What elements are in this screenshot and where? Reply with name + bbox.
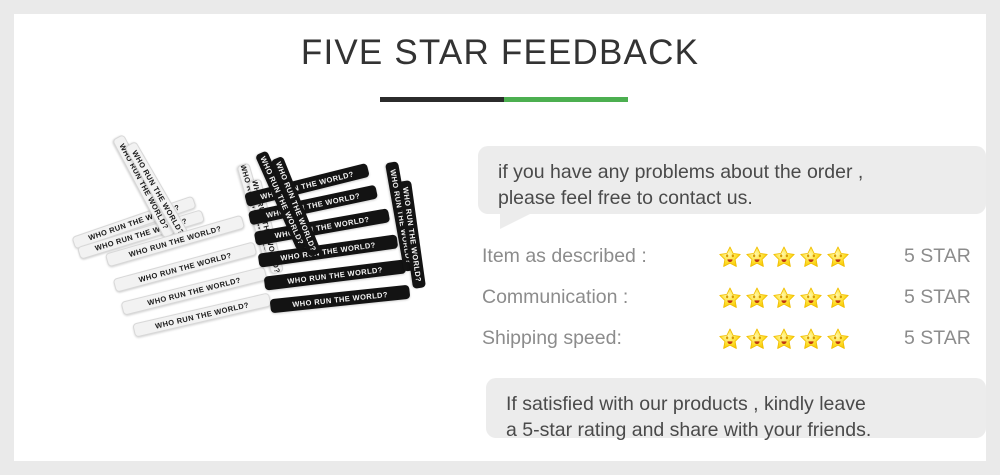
call-to-action-bubble: If satisfied with our products , kindly …	[486, 378, 986, 438]
rating-row-item-as-described: Item as described : 5 STAR	[482, 236, 986, 277]
rating-label: Communication :	[482, 286, 718, 309]
star-icon	[745, 286, 769, 310]
bubble-tail	[500, 212, 534, 229]
star-icon	[799, 245, 823, 269]
contact-message-line-2: please feel free to contact us.	[498, 185, 968, 211]
banner-panel: FIVE STAR FEEDBACK WHO RUN THE WORLD? WH…	[14, 14, 986, 461]
page-title: FIVE STAR FEEDBACK	[14, 33, 986, 73]
star-icon	[745, 245, 769, 269]
title-underline	[380, 97, 628, 102]
star-icon	[799, 286, 823, 310]
star-icon	[718, 245, 742, 269]
star-icon	[718, 286, 742, 310]
star-icon	[772, 327, 796, 351]
rating-row-communication: Communication : 5 STAR	[482, 277, 986, 318]
underline-segment-green	[504, 97, 628, 102]
rating-stars	[718, 286, 858, 310]
contact-message-bubble: if you have any problems about the order…	[478, 146, 986, 214]
rating-value: 5 STAR	[858, 286, 971, 309]
star-icon	[826, 327, 850, 351]
call-to-action-line-1: If satisfied with our products , kindly …	[506, 391, 968, 417]
star-icon	[826, 245, 850, 269]
underline-segment-dark	[380, 97, 504, 102]
rating-label: Shipping speed:	[482, 327, 718, 350]
contact-message-line-1: if you have any problems about the order…	[498, 159, 968, 185]
star-icon	[772, 286, 796, 310]
rating-value: 5 STAR	[858, 327, 971, 350]
ratings-list: Item as described : 5 STAR Communication…	[482, 236, 986, 359]
rating-row-shipping-speed: Shipping speed: 5 STAR	[482, 318, 986, 359]
star-icon	[826, 286, 850, 310]
star-icon	[799, 327, 823, 351]
product-photo: WHO RUN THE WORLD? WHO RUN THE WORLD? WH…	[58, 164, 428, 379]
star-icon	[772, 245, 796, 269]
rating-value: 5 STAR	[858, 245, 971, 268]
five-star-feedback-banner: FIVE STAR FEEDBACK WHO RUN THE WORLD? WH…	[0, 0, 1000, 475]
call-to-action-line-2: a 5-star rating and share with your frie…	[506, 417, 968, 443]
star-icon	[718, 327, 742, 351]
rating-stars	[718, 245, 858, 269]
rating-label: Item as described :	[482, 245, 718, 268]
rating-stars	[718, 327, 858, 351]
star-icon	[745, 327, 769, 351]
